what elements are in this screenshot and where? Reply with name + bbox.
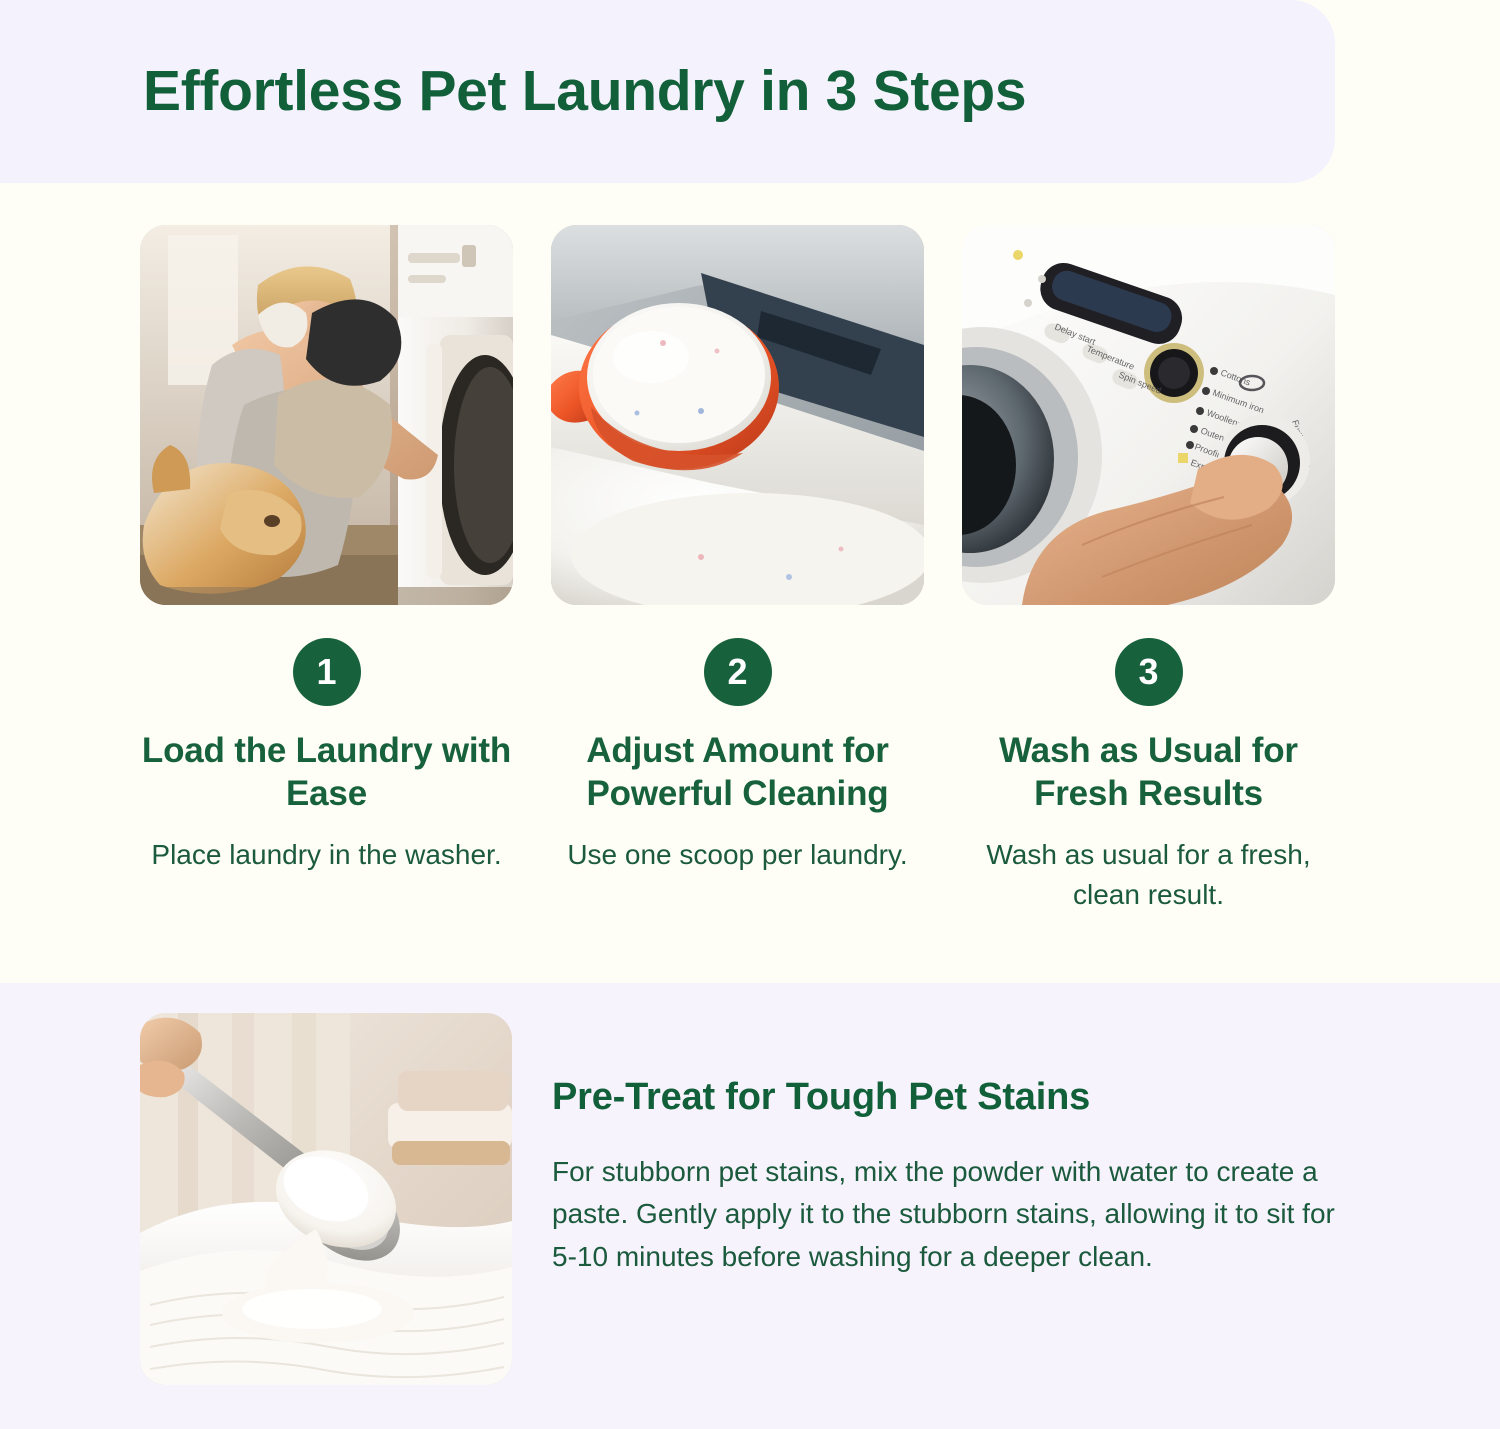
pre-treat-title: Pre-Treat for Tough Pet Stains (552, 1075, 1335, 1121)
page-title: Effortless Pet Laundry in 3 Steps (0, 60, 1026, 123)
child-loading-laundry-with-dog-photo (140, 225, 513, 605)
step-description-3: Wash as usual for a fresh, clean result. (962, 835, 1335, 913)
pre-treat-text: Pre-Treat for Tough Pet Stains For stubb… (552, 1013, 1335, 1385)
step-title-3: Wash as Usual for Fresh Results (962, 730, 1335, 815)
step-description-2: Use one scoop per laundry. (567, 835, 907, 874)
step-title-1: Load the Laundry with Ease (140, 730, 513, 815)
pre-treat-body: For stubborn pet stains, mix the powder … (552, 1151, 1335, 1279)
step-number-badge-1: 1 (293, 638, 361, 706)
step-description-1: Place laundry in the washer. (151, 835, 501, 874)
pre-treat-section: Pre-Treat for Tough Pet Stains For stubb… (0, 983, 1500, 1429)
steps-row: 1 Load the Laundry with Ease Place laund… (140, 225, 1335, 914)
pre-treat-inner: Pre-Treat for Tough Pet Stains For stubb… (140, 1013, 1335, 1385)
steps-section: 1 Load the Laundry with Ease Place laund… (0, 183, 1500, 983)
spoon-with-paste-on-towel-photo (140, 1013, 512, 1385)
step-card-1: 1 Load the Laundry with Ease Place laund… (140, 225, 513, 914)
step-card-3: Cottons Minimum iron Woollens Outerwear … (962, 225, 1335, 914)
step-card-2: 2 Adjust Amount for Powerful Cleaning Us… (551, 225, 924, 914)
header-band: Effortless Pet Laundry in 3 Steps (0, 0, 1335, 183)
detergent-scoop-powder-photo (551, 225, 924, 605)
step-title-2: Adjust Amount for Powerful Cleaning (551, 730, 924, 815)
hand-turning-washer-dial-photo: Cottons Minimum iron Woollens Outerwear … (962, 225, 1335, 605)
step-number-badge-3: 3 (1115, 638, 1183, 706)
step-number-badge-2: 2 (704, 638, 772, 706)
